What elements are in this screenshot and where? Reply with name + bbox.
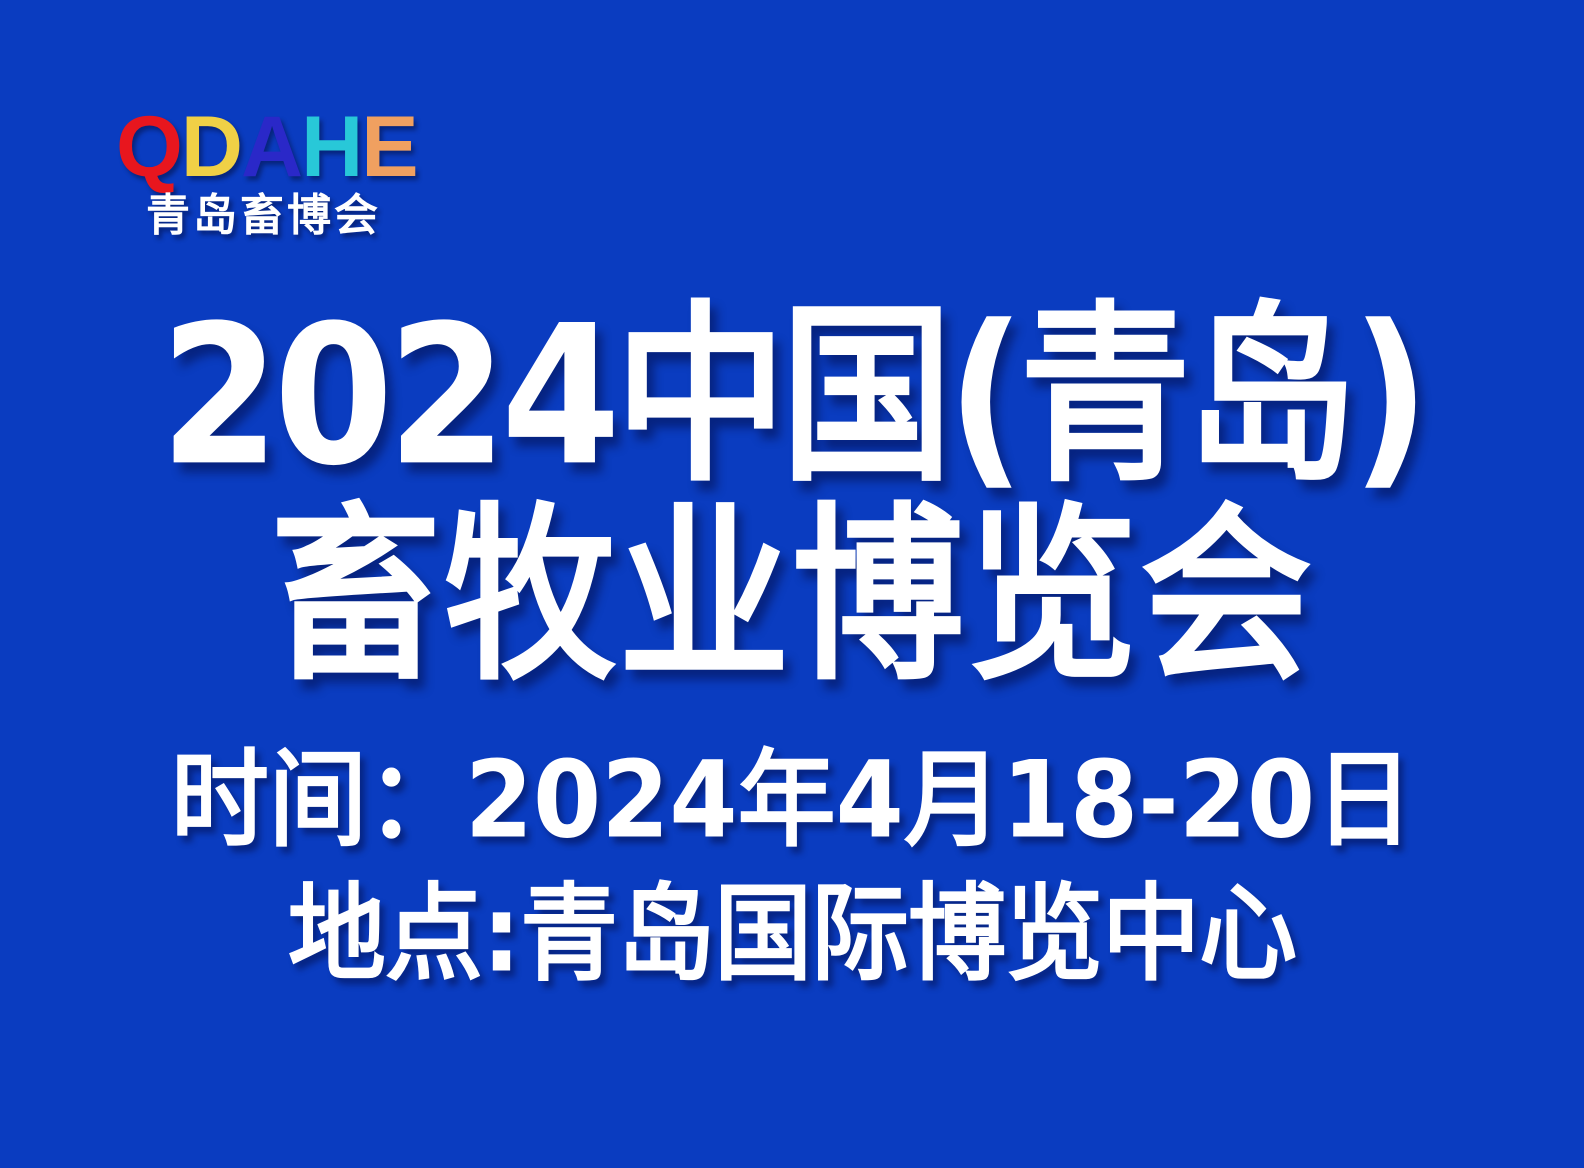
logo-letter-a: A bbox=[241, 104, 301, 190]
event-poster: Q D A H E 青岛畜博会 2024中国(青岛) 畜牧业博览会 时间：202… bbox=[0, 0, 1584, 1168]
logo-letter-d: D bbox=[181, 104, 241, 190]
event-venue-line: 地点:青岛国际博览中心 bbox=[0, 882, 1584, 988]
logo-letter-e: E bbox=[361, 104, 416, 190]
headline-line-2: 畜牧业博览会 bbox=[0, 502, 1584, 691]
logo-subtitle: 青岛畜博会 bbox=[146, 194, 381, 238]
brand-logo: Q D A H E 青岛畜博会 bbox=[116, 104, 436, 244]
details-block: 时间：2024年4月18-20日 地点:青岛国际博览中心 bbox=[0, 748, 1584, 980]
headline-block: 2024中国(青岛) 畜牧业博览会 bbox=[0, 300, 1584, 674]
logo-letter-q: Q bbox=[116, 104, 181, 190]
logo-wordmark: Q D A H E bbox=[116, 104, 417, 190]
logo-letter-h: H bbox=[301, 104, 361, 190]
headline-line-1: 2024中国(青岛) bbox=[0, 300, 1584, 493]
event-date-line: 时间：2024年4月18-20日 bbox=[0, 748, 1584, 854]
